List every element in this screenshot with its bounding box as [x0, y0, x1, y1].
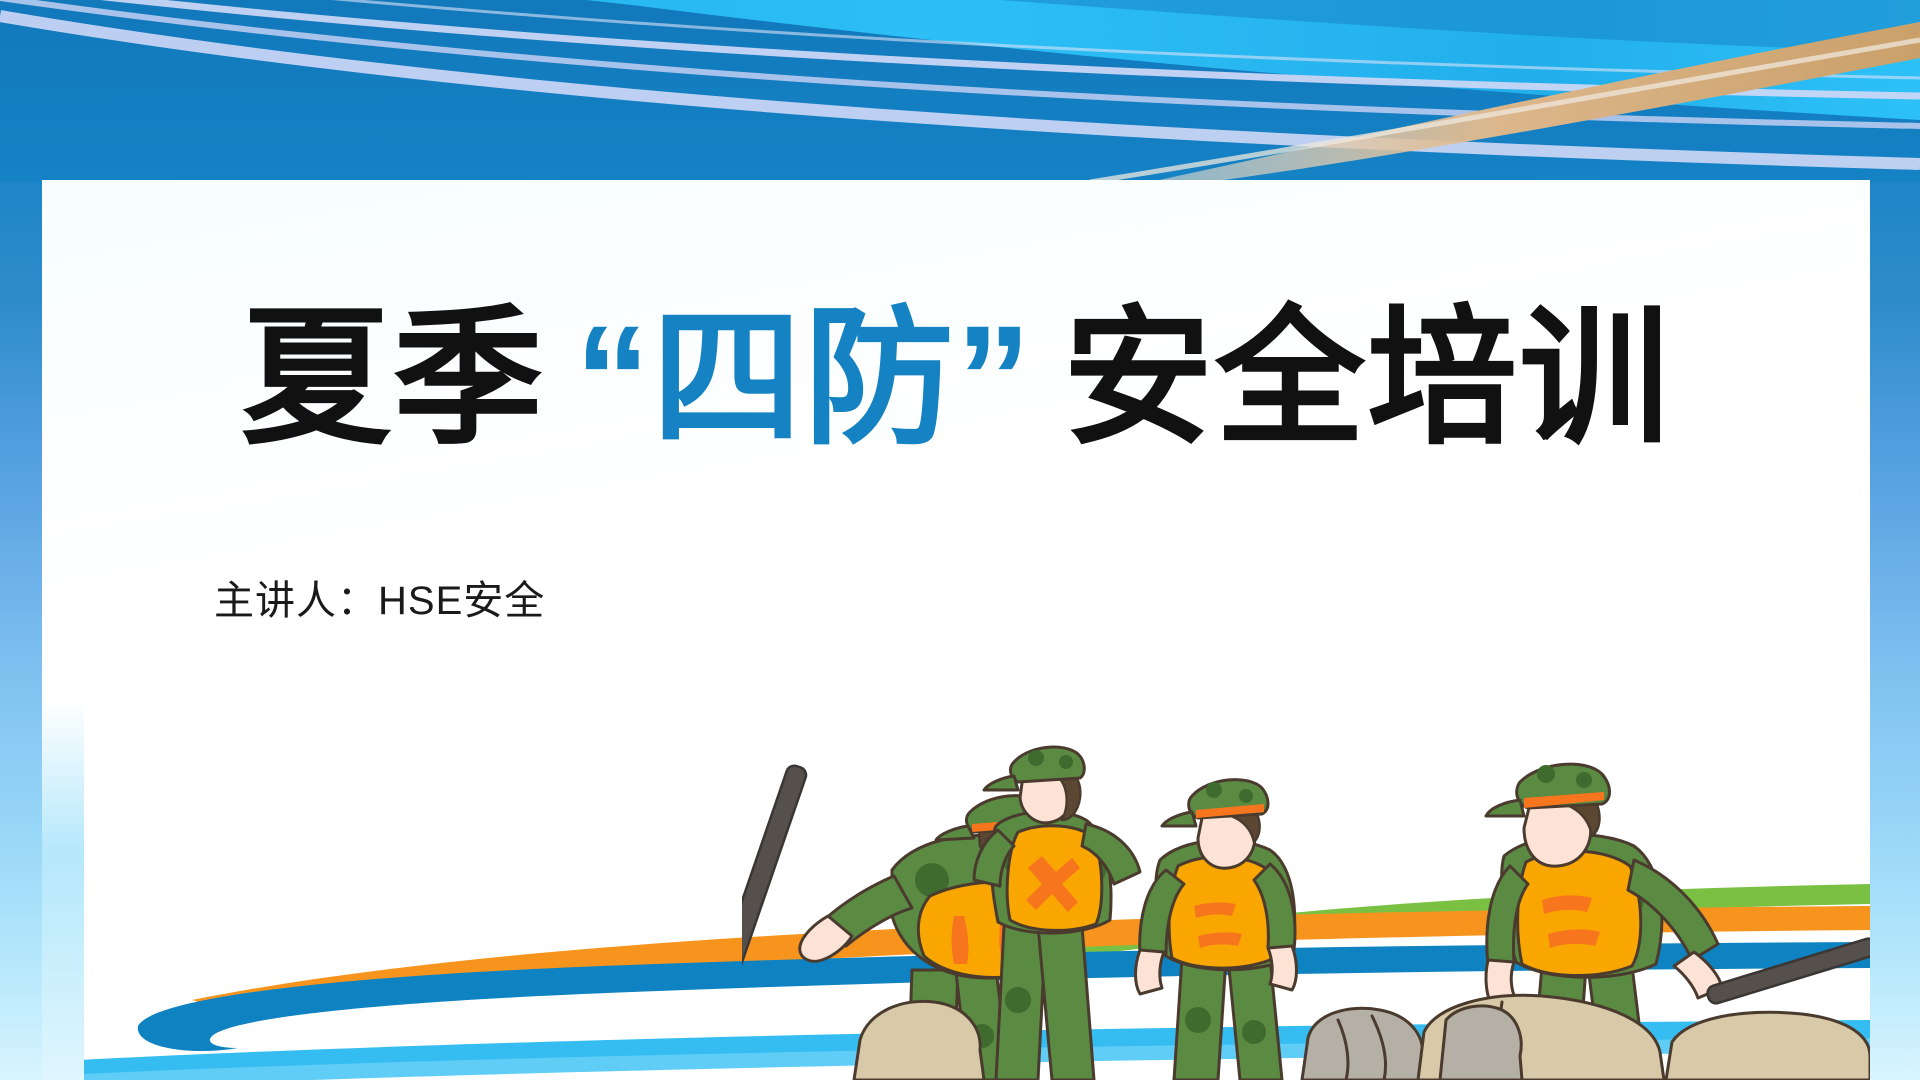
content-card: 夏季“四防”安全培训 主讲人：HSE安全 — [42, 180, 1870, 1080]
title-quote-close: ” — [956, 294, 1033, 462]
title-block: 夏季“四防”安全培训 — [42, 300, 1870, 458]
flood-rescue-illustration: .ln { stroke:#4a3b2e; stroke-width:3; st… — [742, 720, 1870, 1080]
banner-ribbon-graphic — [0, 0, 1920, 182]
title-segment-season: 夏季 — [241, 294, 545, 462]
sack-center — [1302, 1008, 1426, 1080]
title-segment-training: 训 — [1519, 294, 1671, 462]
presentation-slide: 夏季“四防”安全培训 主讲人：HSE安全 — [0, 0, 1920, 1080]
speaker-line: 主讲人：HSE安全 — [214, 568, 545, 626]
title-segment-safety: 安全培 — [1063, 294, 1519, 462]
title-highlight-sifang: 四防 — [652, 294, 956, 462]
title-quote-open: “ — [575, 294, 652, 462]
shovel-pole — [742, 764, 808, 1080]
sack-right — [1440, 1006, 1522, 1080]
page-title: 夏季“四防”安全培训 — [42, 300, 1870, 458]
sandbag-left — [854, 1001, 984, 1080]
worker-three — [1136, 780, 1297, 1080]
shovel-pole-right — [1706, 937, 1870, 1006]
top-decorative-banner — [0, 0, 1920, 182]
sandbag-far-right — [1666, 1012, 1870, 1080]
rescue-workers-graphic: .ln { stroke:#4a3b2e; stroke-width:3; st… — [742, 720, 1870, 1080]
